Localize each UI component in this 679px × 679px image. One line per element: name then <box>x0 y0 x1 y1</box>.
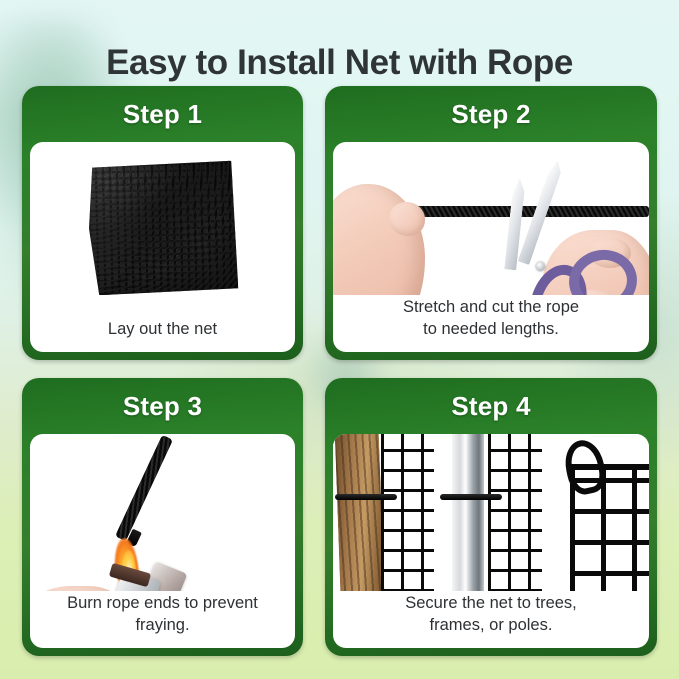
attachment-panels <box>333 434 649 591</box>
metal-pole-icon <box>452 434 484 591</box>
step-2-header: Step 2 <box>325 86 657 142</box>
net-mesh-icon <box>488 434 541 591</box>
folded-net-square-icon <box>87 159 238 295</box>
steps-grid: Step 1 Lay out the net Step 2 <box>22 86 657 656</box>
cable-tie-icon <box>335 494 397 500</box>
step-3-photo <box>30 434 295 591</box>
step-4-header: Step 4 <box>325 378 657 434</box>
step-1-body: Lay out the net <box>30 142 295 352</box>
net-mesh-icon <box>381 434 434 591</box>
cable-tie-icon <box>440 494 502 500</box>
step-card-3: Step 3 Burn rope ends to prevent fraying… <box>22 378 303 656</box>
left-hand-thumb-icon <box>389 202 425 236</box>
step-1-header: Step 1 <box>22 86 303 142</box>
step-4-caption: Secure the net to trees, frames, or pole… <box>333 591 649 648</box>
step-4-body: Secure the net to trees, frames, or pole… <box>333 434 649 648</box>
step-1-photo <box>30 142 295 317</box>
scissors-pivot-icon <box>536 262 545 271</box>
step-card-2: Step 2 Stretch and cut the rope to neede… <box>325 86 657 360</box>
step-card-1: Step 1 Lay out the net <box>22 86 303 360</box>
step-3-body: Burn rope ends to prevent fraying. <box>30 434 295 648</box>
step-card-4: Step 4 <box>325 378 657 656</box>
step-3-caption: Burn rope ends to prevent fraying. <box>30 591 295 648</box>
page-title: Easy to Install Net with Rope <box>0 43 679 83</box>
panel-loop-attachment <box>544 434 649 591</box>
panel-pole-attachment <box>438 434 543 591</box>
step-1-caption: Lay out the net <box>30 317 295 352</box>
rope-icon <box>115 435 173 542</box>
tree-trunk-icon <box>335 434 388 591</box>
step-2-photo <box>333 142 649 295</box>
left-hand-icon <box>333 184 425 295</box>
step-2-body: Stretch and cut the rope to needed lengt… <box>333 142 649 352</box>
step-3-header: Step 3 <box>22 378 303 434</box>
step-2-caption: Stretch and cut the rope to needed lengt… <box>333 295 649 352</box>
panel-tree-attachment <box>333 434 438 591</box>
step-4-photo <box>333 434 649 591</box>
